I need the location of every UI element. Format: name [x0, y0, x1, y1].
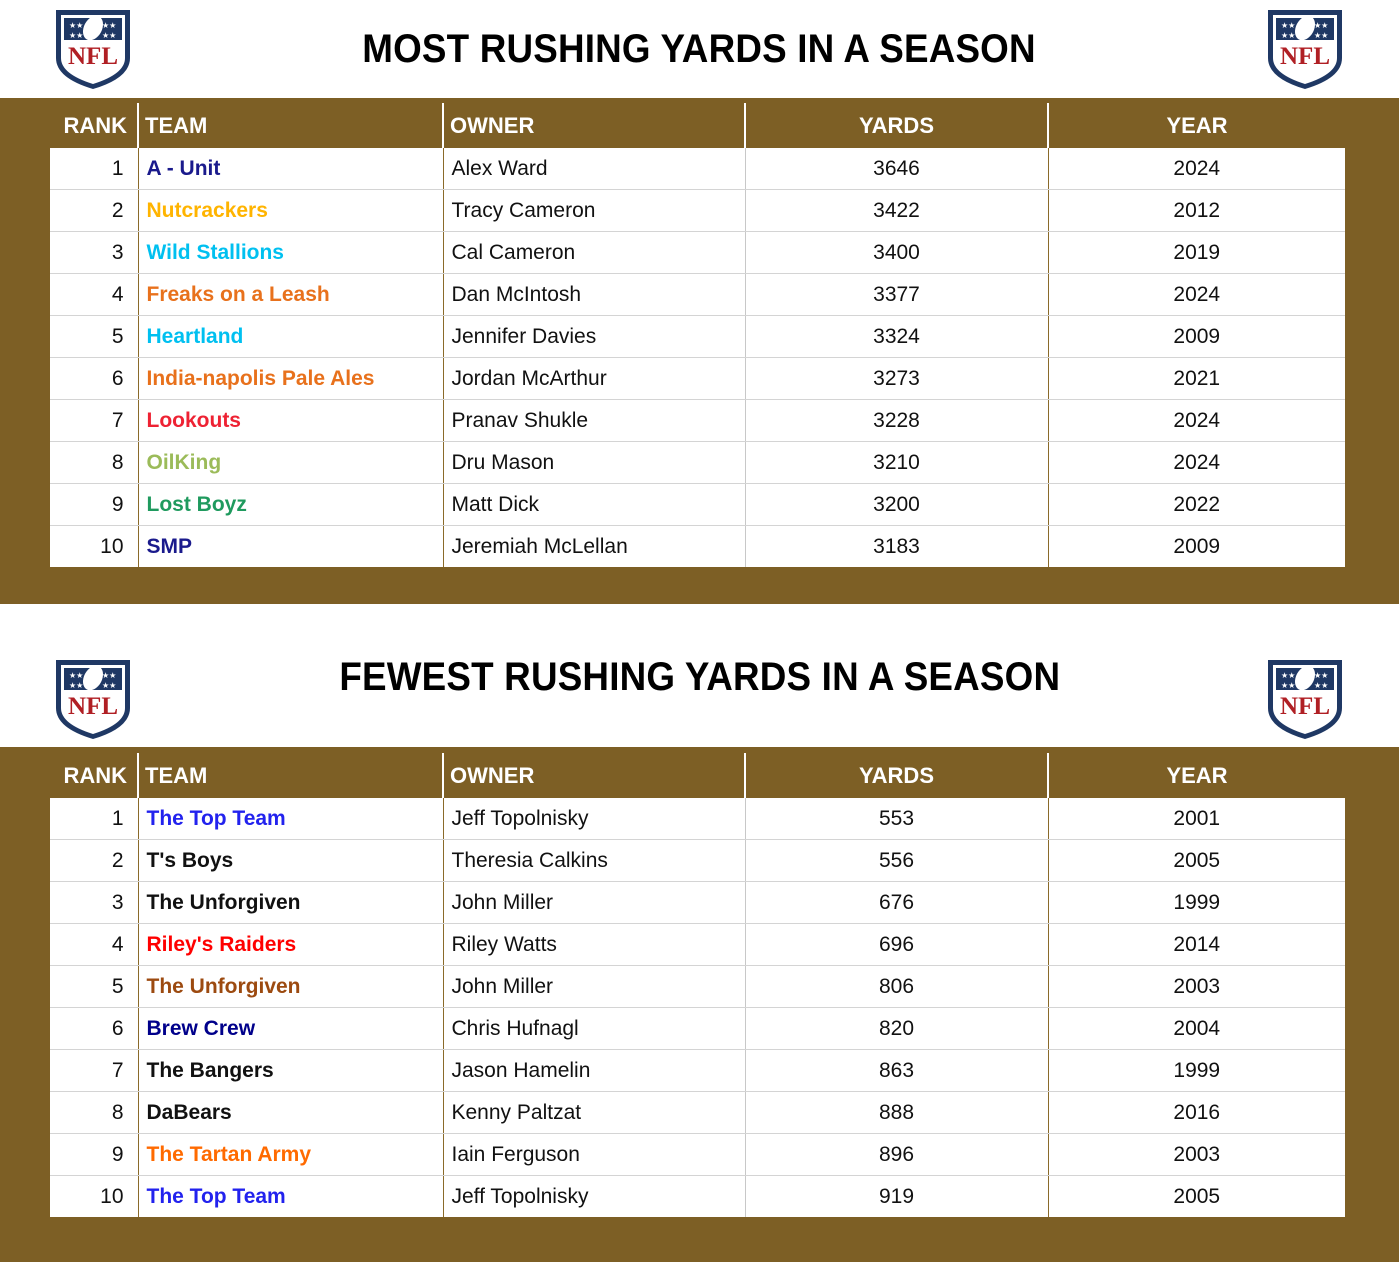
table-row[interactable]: 6Brew CrewChris Hufnagl8202004 [50, 1008, 1345, 1050]
cell-year: 1999 [1048, 1050, 1345, 1092]
nfl-wordmark: NFL [1280, 43, 1330, 70]
table-row[interactable]: 6India-napolis Pale AlesJordan McArthur3… [50, 358, 1345, 400]
cell-year: 2016 [1048, 1092, 1345, 1134]
column-header-year[interactable]: YEAR [1048, 753, 1345, 798]
cell-rank: 1 [50, 798, 138, 840]
cell-rank: 4 [50, 924, 138, 966]
cell-team: Riley's Raiders [138, 924, 443, 966]
table-row[interactable]: 10The Top TeamJeff Topolnisky9192005 [50, 1176, 1345, 1218]
cell-team: Lost Boyz [138, 484, 443, 526]
cell-owner: Riley Watts [443, 924, 745, 966]
column-header-rank[interactable]: RANK [50, 103, 138, 148]
svg-text:★★: ★★ [69, 21, 83, 30]
cell-yards: 556 [745, 840, 1048, 882]
cell-rank: 1 [50, 148, 138, 190]
cell-year: 2024 [1048, 148, 1345, 190]
cell-yards: 553 [745, 798, 1048, 840]
table-row[interactable]: 2NutcrackersTracy Cameron34222012 [50, 190, 1345, 232]
cell-year: 2012 [1048, 190, 1345, 232]
cell-yards: 896 [745, 1134, 1048, 1176]
table-row[interactable]: 3Wild StallionsCal Cameron34002019 [50, 232, 1345, 274]
nfl-wordmark: NFL [68, 43, 118, 70]
cell-team: DaBears [138, 1092, 443, 1134]
cell-rank: 6 [50, 358, 138, 400]
cell-rank: 7 [50, 1050, 138, 1092]
table-row[interactable]: 10SMPJeremiah McLellan31832009 [50, 526, 1345, 568]
svg-text:★★: ★★ [69, 31, 83, 40]
panel-title-band: FEWEST RUSHING YARDS IN A SEASON [0, 608, 1399, 747]
cell-owner: Chris Hufnagl [443, 1008, 745, 1050]
cell-year: 1999 [1048, 882, 1345, 924]
cell-yards: 863 [745, 1050, 1048, 1092]
cell-team: T's Boys [138, 840, 443, 882]
cell-owner: Jeff Topolnisky [443, 798, 745, 840]
cell-year: 2005 [1048, 1176, 1345, 1218]
column-header-owner[interactable]: OWNER [443, 103, 745, 148]
cell-owner: Matt Dick [443, 484, 745, 526]
svg-text:★★: ★★ [102, 671, 116, 680]
most-rushing-yards-table: RANK TEAM OWNER YARDS YEAR 1A - UnitAlex… [50, 103, 1345, 567]
table-row[interactable]: 1A - UnitAlex Ward36462024 [50, 148, 1345, 190]
cell-yards: 3646 [745, 148, 1048, 190]
cell-team: SMP [138, 526, 443, 568]
table-header-row: RANK TEAM OWNER YARDS YEAR [50, 753, 1345, 798]
cell-year: 2005 [1048, 840, 1345, 882]
column-header-team[interactable]: TEAM [138, 103, 443, 148]
svg-text:★★: ★★ [1314, 21, 1328, 30]
cell-rank: 4 [50, 274, 138, 316]
cell-year: 2024 [1048, 400, 1345, 442]
nfl-logo-icon: ★★ ★★ ★★ ★★ NFL [52, 656, 134, 742]
cell-year: 2003 [1048, 1134, 1345, 1176]
cell-yards: 3400 [745, 232, 1048, 274]
cell-rank: 10 [50, 526, 138, 568]
svg-text:★★: ★★ [1314, 31, 1328, 40]
fewest-rushing-yards-panel: FEWEST RUSHING YARDS IN A SEASON ★★ ★★ ★… [0, 608, 1399, 1262]
cell-rank: 6 [50, 1008, 138, 1050]
cell-rank: 5 [50, 966, 138, 1008]
page-title-most: MOST RUSHING YARDS IN A SEASON [363, 27, 1036, 72]
cell-owner: Tracy Cameron [443, 190, 745, 232]
cell-yards: 3422 [745, 190, 1048, 232]
cell-year: 2003 [1048, 966, 1345, 1008]
cell-team: Wild Stallions [138, 232, 443, 274]
cell-yards: 696 [745, 924, 1048, 966]
table-row[interactable]: 2T's BoysTheresia Calkins5562005 [50, 840, 1345, 882]
table-row[interactable]: 5The UnforgivenJohn Miller8062003 [50, 966, 1345, 1008]
cell-owner: Dan McIntosh [443, 274, 745, 316]
table-row[interactable]: 9Lost BoyzMatt Dick32002022 [50, 484, 1345, 526]
cell-yards: 820 [745, 1008, 1048, 1050]
cell-team: Freaks on a Leash [138, 274, 443, 316]
cell-year: 2019 [1048, 232, 1345, 274]
cell-year: 2004 [1048, 1008, 1345, 1050]
table-row[interactable]: 3The UnforgivenJohn Miller6761999 [50, 882, 1345, 924]
column-header-yards[interactable]: YARDS [745, 103, 1048, 148]
cell-team: The Unforgiven [138, 966, 443, 1008]
cell-team: The Top Team [138, 798, 443, 840]
cell-owner: Iain Ferguson [443, 1134, 745, 1176]
panel-title-band: MOST RUSHING YARDS IN A SEASON [0, 0, 1399, 98]
cell-team: Lookouts [138, 400, 443, 442]
cell-rank: 2 [50, 190, 138, 232]
column-header-team[interactable]: TEAM [138, 753, 443, 798]
table-row[interactable]: 1The Top TeamJeff Topolnisky5532001 [50, 798, 1345, 840]
svg-text:★★: ★★ [1281, 681, 1295, 690]
cell-team: Brew Crew [138, 1008, 443, 1050]
cell-rank: 9 [50, 1134, 138, 1176]
nfl-logo-icon: ★★ ★★ ★★ ★★ NFL [1264, 6, 1346, 92]
table-row[interactable]: 7The BangersJason Hamelin8631999 [50, 1050, 1345, 1092]
cell-owner: Dru Mason [443, 442, 745, 484]
svg-text:★★: ★★ [102, 21, 116, 30]
cell-year: 2024 [1048, 442, 1345, 484]
cell-owner: Jason Hamelin [443, 1050, 745, 1092]
cell-team: The Top Team [138, 1176, 443, 1218]
svg-text:★★: ★★ [1281, 671, 1295, 680]
cell-team: Nutcrackers [138, 190, 443, 232]
cell-yards: 888 [745, 1092, 1048, 1134]
cell-yards: 3183 [745, 526, 1048, 568]
cell-owner: Jeff Topolnisky [443, 1176, 745, 1218]
cell-yards: 3210 [745, 442, 1048, 484]
page-title-fewest: FEWEST RUSHING YARDS IN A SEASON [339, 655, 1060, 700]
cell-owner: Jordan McArthur [443, 358, 745, 400]
cell-yards: 806 [745, 966, 1048, 1008]
cell-owner: Jeremiah McLellan [443, 526, 745, 568]
cell-rank: 10 [50, 1176, 138, 1218]
cell-rank: 3 [50, 232, 138, 274]
cell-year: 2024 [1048, 274, 1345, 316]
svg-text:★★: ★★ [69, 671, 83, 680]
cell-team: OilKing [138, 442, 443, 484]
cell-team: A - Unit [138, 148, 443, 190]
cell-owner: Jennifer Davies [443, 316, 745, 358]
svg-text:★★: ★★ [69, 681, 83, 690]
column-header-yards[interactable]: YARDS [745, 753, 1048, 798]
cell-team: India-napolis Pale Ales [138, 358, 443, 400]
cell-rank: 3 [50, 882, 138, 924]
cell-team: The Tartan Army [138, 1134, 443, 1176]
cell-team: Heartland [138, 316, 443, 358]
cell-yards: 676 [745, 882, 1048, 924]
cell-year: 2014 [1048, 924, 1345, 966]
cell-owner: Theresia Calkins [443, 840, 745, 882]
column-header-owner[interactable]: OWNER [443, 753, 745, 798]
table-header-row: RANK TEAM OWNER YARDS YEAR [50, 103, 1345, 148]
table-row[interactable]: 5HeartlandJennifer Davies33242009 [50, 316, 1345, 358]
column-header-rank[interactable]: RANK [50, 753, 138, 798]
cell-year: 2001 [1048, 798, 1345, 840]
cell-year: 2022 [1048, 484, 1345, 526]
table-body: 1A - UnitAlex Ward364620242NutcrackersTr… [50, 148, 1345, 567]
nfl-wordmark: NFL [68, 693, 118, 720]
table-row[interactable]: 4Freaks on a LeashDan McIntosh33772024 [50, 274, 1345, 316]
cell-rank: 2 [50, 840, 138, 882]
cell-year: 2021 [1048, 358, 1345, 400]
cell-team: The Unforgiven [138, 882, 443, 924]
cell-team: The Bangers [138, 1050, 443, 1092]
fewest-rushing-yards-table: RANK TEAM OWNER YARDS YEAR 1The Top Team… [50, 753, 1345, 1217]
svg-text:★★: ★★ [102, 681, 116, 690]
cell-yards: 919 [745, 1176, 1048, 1218]
table-row[interactable]: 9The Tartan ArmyIain Ferguson8962003 [50, 1134, 1345, 1176]
table-row[interactable]: 8OilKingDru Mason32102024 [50, 442, 1345, 484]
svg-text:★★: ★★ [1314, 681, 1328, 690]
cell-rank: 5 [50, 316, 138, 358]
cell-yards: 3377 [745, 274, 1048, 316]
most-rushing-yards-panel: MOST RUSHING YARDS IN A SEASON ★★ ★★ ★★ … [0, 0, 1399, 604]
svg-text:★★: ★★ [1281, 21, 1295, 30]
cell-rank: 9 [50, 484, 138, 526]
svg-text:★★: ★★ [102, 31, 116, 40]
nfl-logo-icon: ★★ ★★ ★★ ★★ NFL [1264, 656, 1346, 742]
svg-text:★★: ★★ [1314, 671, 1328, 680]
leaderboard-page: MOST RUSHING YARDS IN A SEASON ★★ ★★ ★★ … [0, 0, 1399, 1262]
cell-rank: 8 [50, 442, 138, 484]
cell-rank: 7 [50, 400, 138, 442]
table-row[interactable]: 8DaBearsKenny Paltzat8882016 [50, 1092, 1345, 1134]
cell-owner: Kenny Paltzat [443, 1092, 745, 1134]
cell-yards: 3273 [745, 358, 1048, 400]
cell-owner: John Miller [443, 882, 745, 924]
cell-yards: 3228 [745, 400, 1048, 442]
cell-yards: 3200 [745, 484, 1048, 526]
cell-owner: Alex Ward [443, 148, 745, 190]
cell-owner: Pranav Shukle [443, 400, 745, 442]
nfl-wordmark: NFL [1280, 693, 1330, 720]
nfl-logo-icon: ★★ ★★ ★★ ★★ NFL [52, 6, 134, 92]
table-row[interactable]: 4Riley's RaidersRiley Watts6962014 [50, 924, 1345, 966]
cell-rank: 8 [50, 1092, 138, 1134]
cell-yards: 3324 [745, 316, 1048, 358]
svg-text:★★: ★★ [1281, 31, 1295, 40]
table-body: 1The Top TeamJeff Topolnisky55320012T's … [50, 798, 1345, 1217]
column-header-year[interactable]: YEAR [1048, 103, 1345, 148]
cell-owner: John Miller [443, 966, 745, 1008]
cell-owner: Cal Cameron [443, 232, 745, 274]
cell-year: 2009 [1048, 526, 1345, 568]
cell-year: 2009 [1048, 316, 1345, 358]
table-row[interactable]: 7LookoutsPranav Shukle32282024 [50, 400, 1345, 442]
